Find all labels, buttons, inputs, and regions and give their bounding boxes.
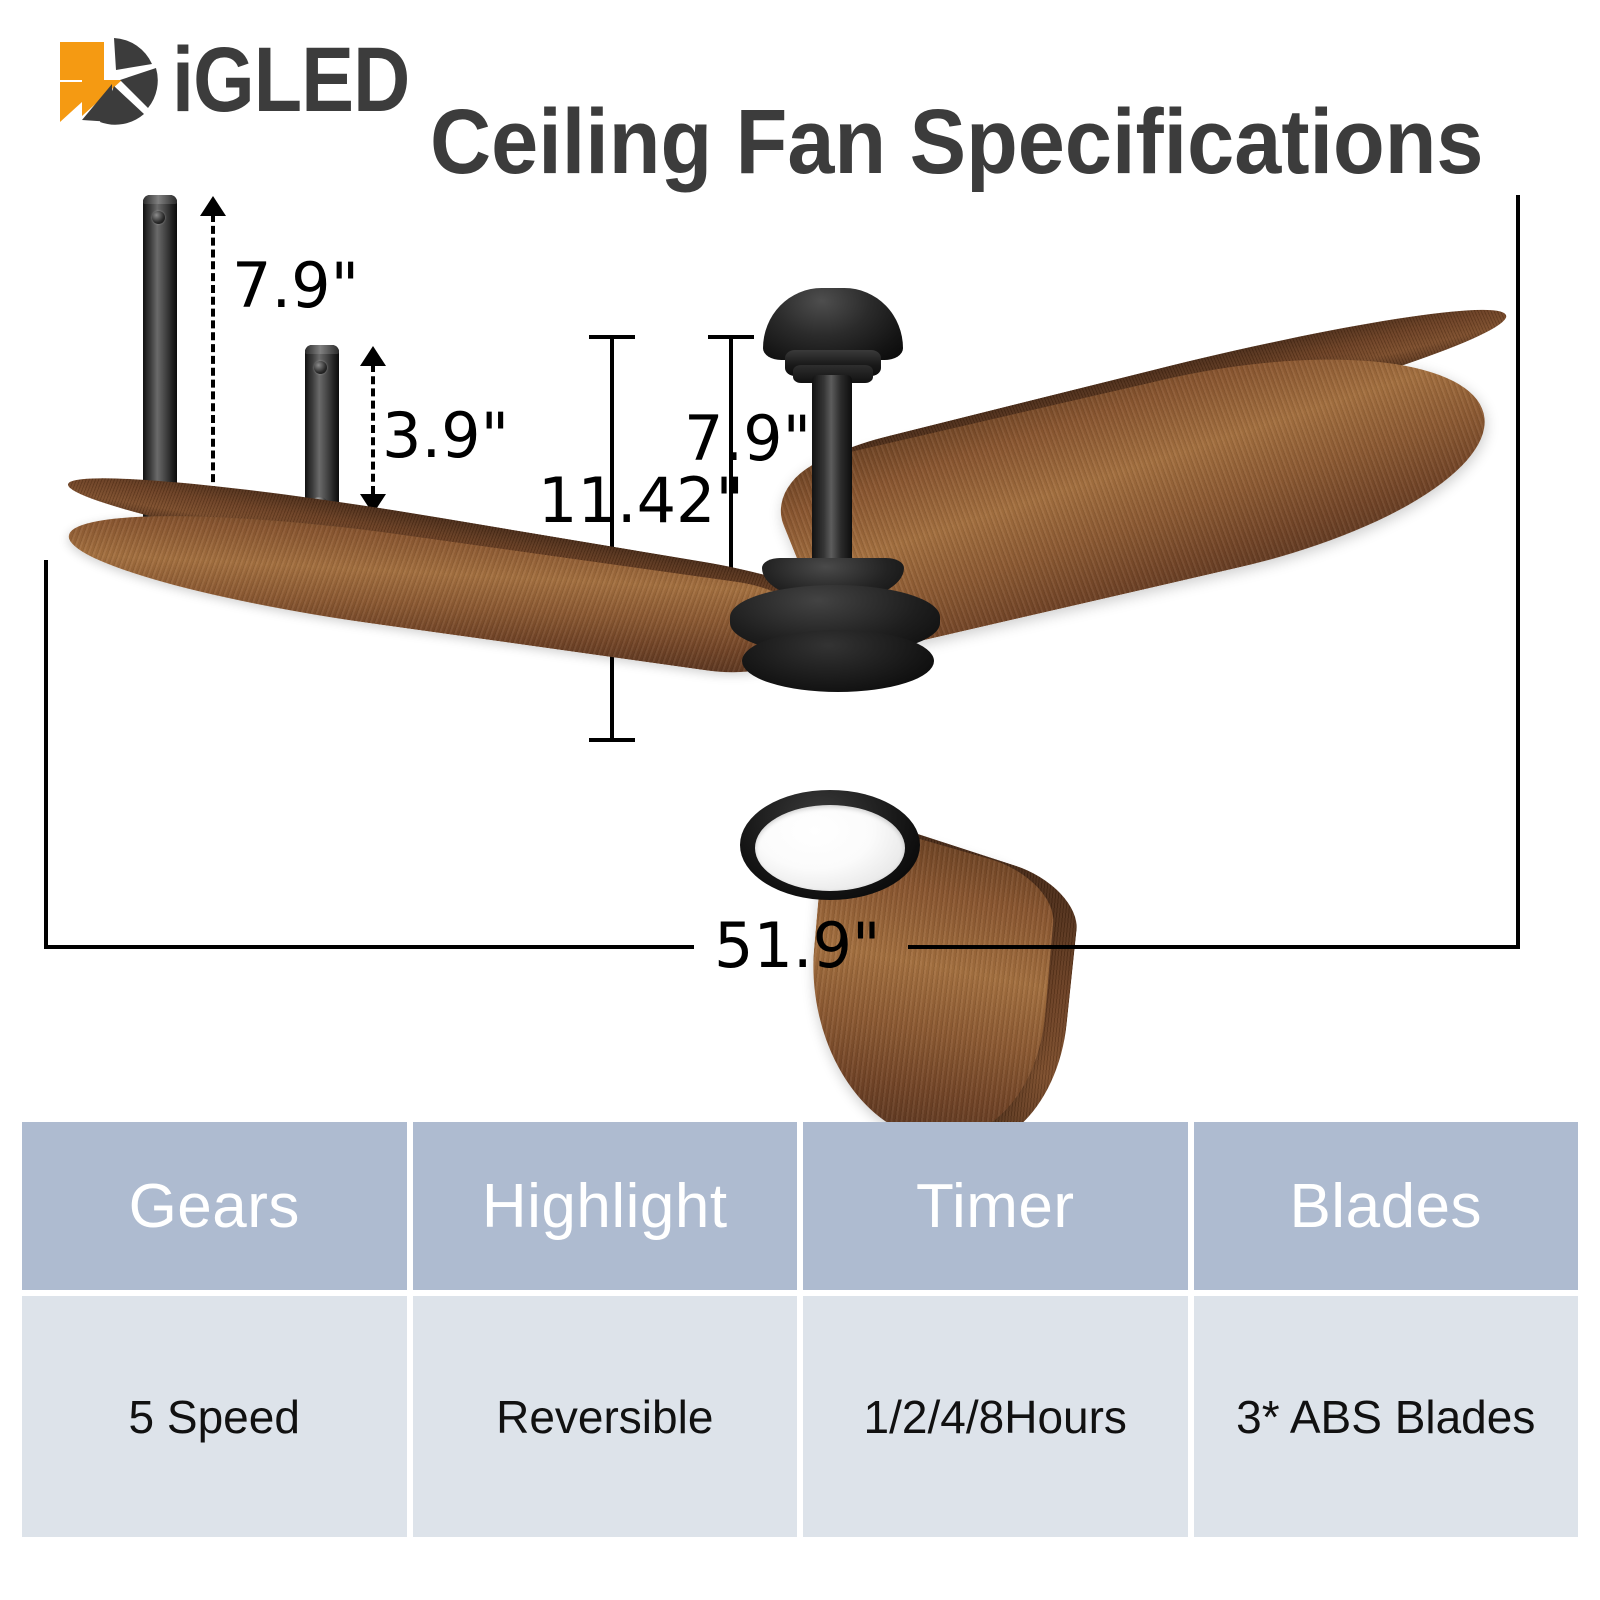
table-header-highlight: Highlight — [413, 1122, 798, 1290]
table-header-blades: Blades — [1194, 1122, 1579, 1290]
table-header-row: Gears Highlight Timer Blades — [22, 1122, 1578, 1290]
table-cell-gears: 5 Speed — [22, 1296, 407, 1537]
table-header-gears: Gears — [22, 1122, 407, 1290]
led-light-lens — [755, 805, 905, 891]
brand-name: iGLED — [172, 30, 409, 130]
table-cell-highlight: Reversible — [413, 1296, 798, 1537]
fan-downrod-installed — [812, 375, 852, 570]
fan-hub-ring — [742, 630, 934, 692]
header: iGLED Ceiling Fan Specifications — [0, 0, 1600, 160]
specification-sheet: iGLED Ceiling Fan Specifications 7.9" 3.… — [0, 0, 1600, 1600]
dim-line-span-left — [44, 945, 694, 949]
dim-line-span-right — [908, 945, 1520, 949]
table-header-timer: Timer — [803, 1122, 1188, 1290]
dim-label-blade-span: 51.9" — [714, 915, 881, 977]
table-cell-timer: 1/2/4/8Hours — [803, 1296, 1188, 1537]
table-value-row: 5 Speed Reversible 1/2/4/8Hours 3* ABS B… — [22, 1296, 1578, 1537]
specification-table: Gears Highlight Timer Blades 5 Speed Rev… — [22, 1122, 1578, 1537]
digled-aperture-logo-icon — [52, 24, 170, 134]
table-cell-blades: 3* ABS Blades — [1194, 1296, 1579, 1537]
dim-ext-line-right — [1516, 195, 1520, 948]
product-diagram: 7.9" 3.9" 11.42" 7.9" — [0, 160, 1600, 1060]
dim-ext-line-left — [44, 560, 48, 948]
